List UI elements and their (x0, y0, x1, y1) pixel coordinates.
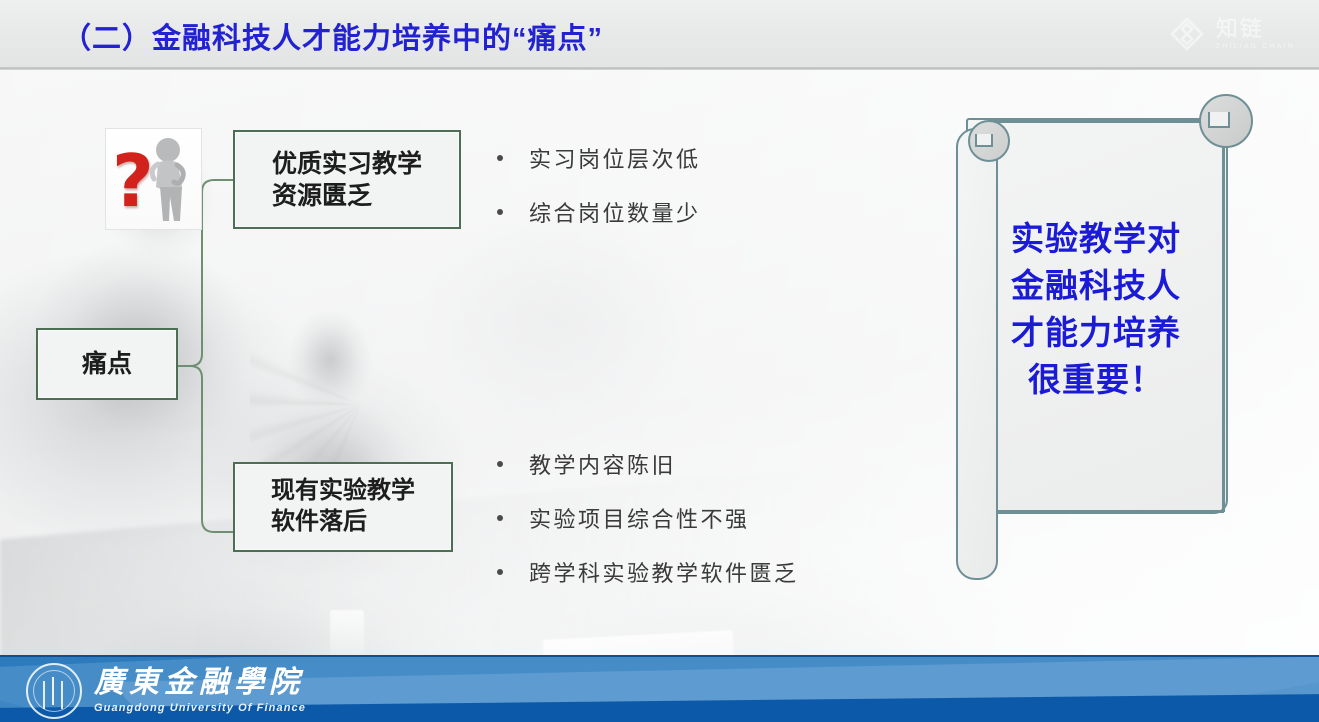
university-name-cn: 廣東金融學院 (94, 668, 306, 698)
bullet-list-1: 实习岗位层次低 综合岗位数量少 (497, 142, 701, 250)
list-item: 实验项目综合性不强 (497, 502, 799, 534)
bullet-dot-icon (497, 515, 503, 521)
brand-name-en: ZHILIAN CHAIN (1216, 43, 1295, 50)
diagram-branch-label-1: 优质实习教学 资源匮乏 (258, 148, 436, 212)
diagram-root-box[interactable]: 痛点 (36, 328, 178, 400)
scroll-bottom-edge (988, 510, 1224, 513)
diagram-branch-box-2[interactable]: 现有实验教学 软件落后 (233, 462, 453, 552)
bullet-dot-icon (497, 209, 503, 215)
scroll-text: 实验教学对 金融科技人 才能力培养 很重要！ (976, 216, 1216, 403)
page-title: （二）金融科技人才能力培养中的“痛点” (62, 15, 603, 57)
list-item: 跨学科实验教学软件匮乏 (497, 556, 799, 588)
bullet-text: 教学内容陈旧 (529, 448, 676, 480)
scroll-top-edge (988, 120, 1218, 123)
thinking-person-figure-icon (144, 137, 188, 223)
header-divider (0, 67, 1319, 70)
scroll-callout: 实验教学对 金融科技人 才能力培养 很重要！ (948, 92, 1248, 557)
slide-header: （二）金融科技人才能力培养中的“痛点” 知链 ZHILIAN CHAIN (0, 0, 1319, 70)
brand-name-cn: 知链 (1216, 18, 1264, 40)
bullet-text: 跨学科实验教学软件匮乏 (529, 556, 799, 588)
brand-logo: 知链 ZHILIAN CHAIN (1167, 14, 1295, 54)
bullet-text: 实习岗位层次低 (529, 142, 701, 174)
university-name-en: Guangdong University Of Finance (94, 703, 306, 714)
diagram-root-label: 痛点 (68, 348, 146, 380)
list-item: 综合岗位数量少 (497, 196, 701, 228)
bullet-text: 综合岗位数量少 (529, 196, 701, 228)
scroll-right-rod (1222, 122, 1225, 512)
presentation-slide: （二）金融科技人才能力培养中的“痛点” 知链 ZHILIAN CHAIN ? (0, 0, 1319, 722)
bullet-dot-icon (497, 569, 503, 575)
university-seal-icon (26, 663, 82, 719)
scroll-curl-top-right-icon (1199, 94, 1253, 148)
chain-link-icon (1167, 14, 1207, 54)
bullet-text: 实验项目综合性不强 (529, 502, 750, 534)
list-item: 教学内容陈旧 (497, 448, 799, 480)
university-logo: 廣東金融學院 Guangdong University Of Finance (26, 663, 306, 719)
diagram-branch-box-1[interactable]: 优质实习教学 资源匮乏 (233, 130, 461, 229)
bullet-dot-icon (497, 461, 503, 467)
diagram-branch-label-2: 现有实验教学 软件落后 (257, 476, 429, 537)
bullet-list-2: 教学内容陈旧 实验项目综合性不强 跨学科实验教学软件匮乏 (497, 448, 799, 610)
list-item: 实习岗位层次低 (497, 142, 701, 174)
slide-footer: 廣東金融學院 Guangdong University Of Finance (0, 655, 1319, 722)
thinking-figure-question-mark-image: ? (105, 128, 202, 230)
bullet-dot-icon (497, 155, 503, 161)
footer-top-line (0, 655, 1319, 657)
scroll-curl-top-left-icon (968, 120, 1010, 162)
